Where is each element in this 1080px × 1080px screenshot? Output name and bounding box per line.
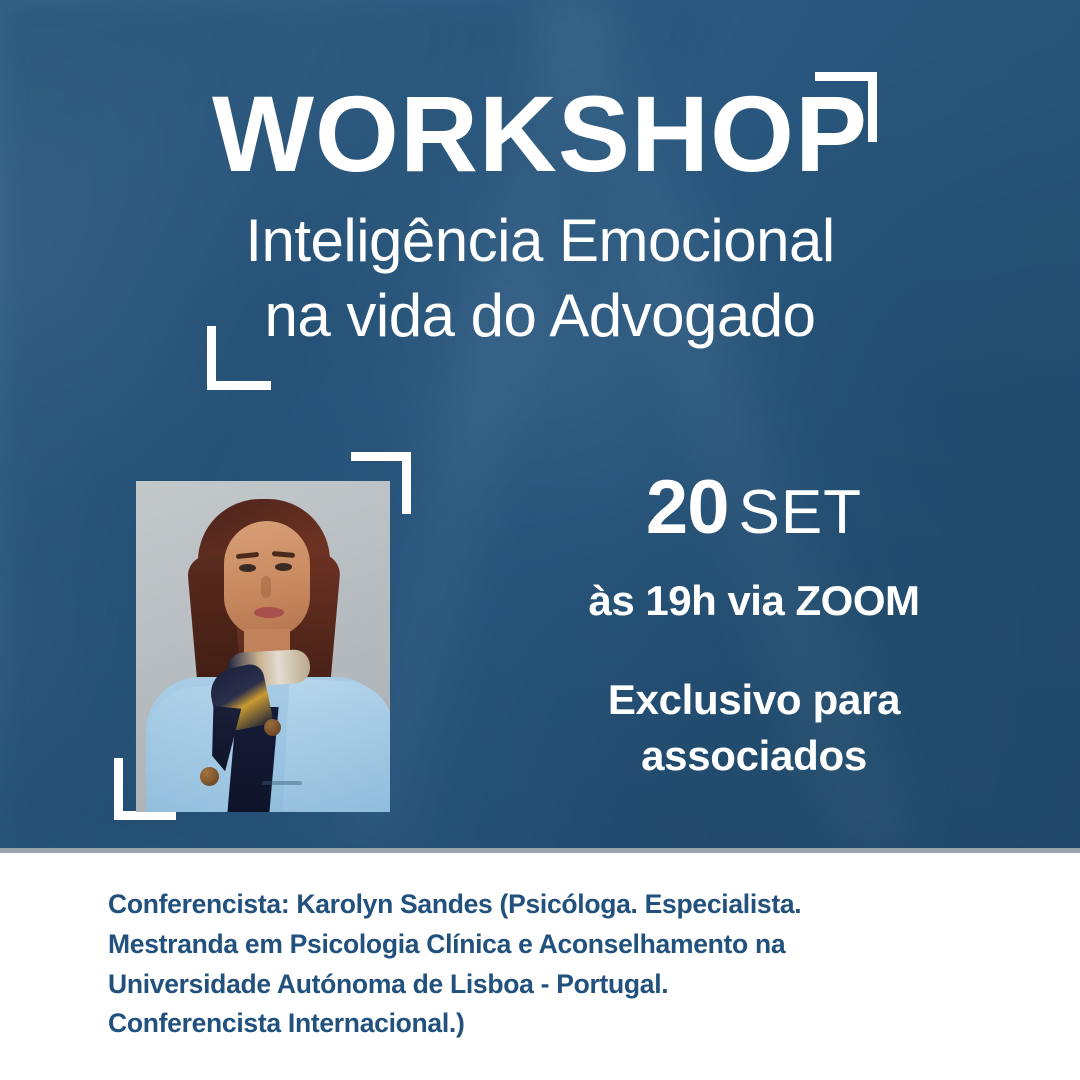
event-date-day: 20 [646, 465, 729, 550]
event-date: 20SET [552, 470, 956, 546]
corner-bracket-title-bottom-left [207, 326, 271, 390]
photo-eye-right [275, 563, 292, 571]
bracket-arm-vertical [868, 72, 877, 142]
photo-jacket-button-lower [200, 767, 219, 786]
speaker-credentials-line-1: Conferencista: Karolyn Sandes (Psicóloga… [108, 885, 868, 925]
photo-jacket-button-upper [264, 719, 281, 736]
photo-lips [254, 607, 284, 618]
event-info-block: 20SET às 19h via ZOOM Exclusivo para ass… [552, 470, 956, 783]
speaker-credentials-line-2: Mestranda em Psicologia Clínica e Aconse… [108, 925, 868, 965]
bracket-arm-horizontal [207, 381, 271, 390]
speaker-credentials-line-4: Conferencista Internacional.) [108, 1004, 868, 1044]
event-date-month: SET [738, 478, 862, 547]
photo-jacket-shoulder-right [283, 678, 390, 812]
speaker-photo [136, 481, 390, 812]
event-time: às 19h via ZOOM [552, 578, 956, 624]
photo-nose [261, 576, 271, 598]
event-audience-note: Exclusivo para associados [552, 672, 956, 783]
speaker-credentials-line-3: Universidade Autónoma de Lisboa - Portug… [108, 965, 868, 1005]
speaker-credentials: Conferencista: Karolyn Sandes (Psicóloga… [108, 885, 868, 1044]
event-poster: WORKSHOP Inteligência Emocional na vida … [0, 0, 1080, 1080]
event-audience-line-1: Exclusivo para [608, 676, 900, 723]
bracket-arm-horizontal [114, 811, 176, 820]
footer-section: Conferencista: Karolyn Sandes (Psicóloga… [0, 853, 1080, 1080]
hero-section: WORKSHOP Inteligência Emocional na vida … [0, 0, 1080, 848]
bracket-arm-vertical [402, 452, 411, 514]
event-audience-line-2: associados [552, 728, 956, 783]
corner-bracket-title-top-right [815, 72, 877, 142]
photo-jacket-pocket-stitch [262, 781, 302, 785]
photo-eye-left [239, 564, 256, 572]
